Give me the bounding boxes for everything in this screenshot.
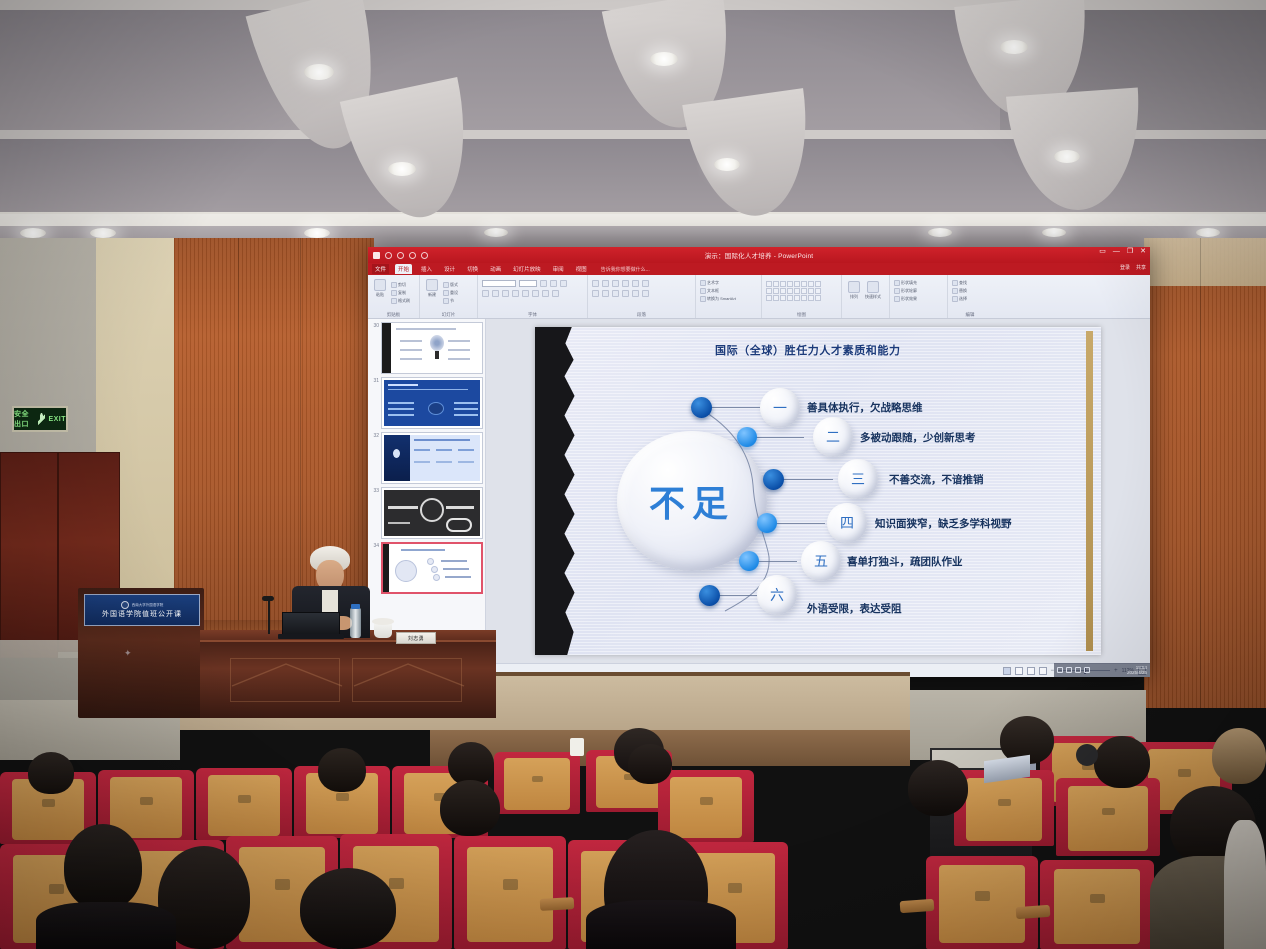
new-slide-label: 新建 <box>428 292 436 298</box>
powerpoint-window[interactable]: 演示：国际化人才培养 - PowerPoint ▭ — ❐ ✕ 文件 开始 插入… <box>368 247 1150 677</box>
item-index-6: 六 <box>770 585 784 605</box>
italic-icon[interactable] <box>492 290 499 297</box>
clock-date: 2025/4/25 <box>1127 670 1147 675</box>
view-normal-icon[interactable] <box>1003 667 1011 675</box>
audience-head <box>1094 736 1150 788</box>
thumb-line <box>454 402 478 404</box>
thumb-band <box>382 323 391 373</box>
thumb-line <box>400 340 422 342</box>
search-icon <box>952 280 958 286</box>
format-painter-label: 格式刷 <box>398 298 410 304</box>
ribbon-group-font: 字体 <box>478 275 588 318</box>
thumbnail-number: 31 <box>370 377 379 429</box>
item-bubble-4: 四 <box>827 503 867 543</box>
paste-button[interactable]: 粘贴 <box>372 279 388 307</box>
university-crest-icon <box>121 601 129 609</box>
view-sorter-icon[interactable] <box>1015 667 1023 675</box>
audience-head <box>908 760 968 816</box>
table-carving <box>226 656 476 696</box>
align-center-icon[interactable] <box>602 290 609 297</box>
textbox-icon <box>700 288 706 294</box>
nameplate-text: 刘志勇 <box>408 635 425 642</box>
wall-seam <box>300 238 301 630</box>
shape-icon[interactable] <box>766 288 772 294</box>
audience-head <box>300 868 396 949</box>
wordart-icon <box>700 280 706 286</box>
thumbnail-row[interactable]: 34 <box>370 542 483 594</box>
item-index-1: 一 <box>773 398 787 418</box>
thumb-line <box>445 576 471 578</box>
thumb-person <box>393 449 400 458</box>
downlight <box>484 228 508 237</box>
tab-design[interactable]: 设计 <box>441 264 458 274</box>
close-icon[interactable]: ✕ <box>1140 248 1146 256</box>
thumb-line <box>458 461 474 463</box>
cut-label: 剪切 <box>398 282 406 288</box>
replace-button[interactable]: 替换 <box>952 288 988 294</box>
bulb-base <box>435 351 439 359</box>
tab-slideshow[interactable]: 幻灯片放映 <box>510 264 544 274</box>
thumbnail-number: 34 <box>370 542 379 594</box>
ribbon-options-icon[interactable]: ▭ <box>1099 248 1106 256</box>
thumb-circle <box>428 402 444 415</box>
armrest <box>1016 905 1051 919</box>
textbox-label: 文本框 <box>707 288 719 294</box>
seat-r3-i <box>1040 860 1154 949</box>
bold-icon[interactable] <box>482 290 489 297</box>
downlight <box>304 64 334 80</box>
tab-transitions[interactable]: 切换 <box>464 264 481 274</box>
thumbnail-row[interactable]: 33 <box>370 487 483 539</box>
running-man-icon <box>38 413 46 426</box>
lecture-hall-photo: 安全出口 EXIT 演示：国际化人才培养 - PowerPoint ▭ — <box>0 0 1266 949</box>
shape-icon[interactable] <box>780 281 786 287</box>
network-icon[interactable] <box>1057 667 1063 673</box>
quick-styles-icon <box>867 281 879 293</box>
find-label: 查找 <box>959 280 967 286</box>
shape-icon[interactable] <box>766 295 772 301</box>
wordart-button[interactable]: 艺术字 <box>700 280 757 286</box>
group-label-clipboard: 剪贴板 <box>368 312 419 318</box>
font-color-icon[interactable] <box>552 290 559 297</box>
view-reading-icon[interactable] <box>1027 667 1035 675</box>
increase-font-icon[interactable] <box>540 280 547 287</box>
shape-fill-label: 形状填充 <box>901 280 917 286</box>
font-size-input[interactable] <box>519 280 537 287</box>
laptop-base <box>278 634 344 639</box>
audience-head <box>628 744 672 784</box>
slide-title: 国际（全球）胜任力人才素质和能力 <box>715 342 901 358</box>
seat-r1-a <box>494 752 580 814</box>
thumb-line <box>388 522 410 524</box>
select-label: 选择 <box>959 296 967 302</box>
arrange-button[interactable]: 排列 <box>846 281 862 309</box>
item-index-4: 四 <box>840 513 854 533</box>
clear-format-icon[interactable] <box>560 280 567 287</box>
ribbon-group-paragraph-extra: 艺术字 文本框 转换为 SmartArt <box>696 275 762 318</box>
workspace: 30 <box>368 319 1150 663</box>
sign-in-label[interactable]: 登录 <box>1120 264 1130 271</box>
ribbon-group-slides: 新建 版式 重设 节 幻灯片 <box>420 275 478 318</box>
group-label-paragraph: 段落 <box>588 312 695 318</box>
thumb-line <box>446 506 474 509</box>
thumb-line <box>448 349 470 351</box>
podium-main-line: 外国语学院值班公开课 <box>102 609 182 619</box>
ribbon-group-arrange: 排列 快速样式 <box>842 275 890 318</box>
thumb-line <box>388 506 418 509</box>
thumb-title-line <box>414 439 470 441</box>
shape-icon[interactable] <box>787 295 793 301</box>
convert-icon <box>700 296 706 302</box>
reset-icon <box>443 290 449 296</box>
thumbnail-row[interactable]: 31 <box>370 377 483 429</box>
ribbon-group-shape-format: 形状填充 形状轮廓 形状效果 <box>890 275 948 318</box>
laptop-screen[interactable] <box>282 612 340 636</box>
thumb-line <box>388 389 468 390</box>
taskbar-clock[interactable]: 18:54 2025/4/25 <box>1127 665 1147 675</box>
thumb-line <box>443 568 469 570</box>
copy-label: 复制 <box>398 290 406 296</box>
quick-styles-button[interactable]: 快速样式 <box>865 281 881 309</box>
thumbnail-row[interactable]: 30 <box>370 322 483 374</box>
replace-label: 替换 <box>959 288 967 294</box>
thumb-title-line <box>401 549 445 551</box>
seat-r2-h <box>1056 778 1160 856</box>
thumb-line <box>448 358 470 360</box>
node-dot-4 <box>757 513 777 533</box>
input-icon[interactable] <box>1084 667 1090 673</box>
seat-r3-e <box>454 836 566 949</box>
downlight <box>1042 228 1066 237</box>
character-spacing-icon[interactable] <box>532 290 539 297</box>
convert-smartart-button[interactable]: 转换为 SmartArt <box>700 296 757 302</box>
thumb-line <box>436 449 452 451</box>
paper-cup <box>570 738 584 756</box>
seat-r3-h <box>926 856 1038 949</box>
group-label-slides: 幻灯片 <box>420 312 477 318</box>
item-bubble-2: 二 <box>813 417 853 457</box>
tab-animations[interactable]: 动画 <box>487 264 504 274</box>
thumb-line <box>441 560 467 562</box>
exit-sign-left-text: 安全出口 <box>14 409 35 429</box>
ceiling-slab-upper <box>0 10 1000 130</box>
title-bar: 演示：国际化人才培养 - PowerPoint ▭ — ❐ ✕ <box>368 247 1150 263</box>
decrease-indent-icon[interactable] <box>612 280 619 287</box>
shape-outline-button[interactable]: 形状轮廓 <box>894 288 943 294</box>
restore-icon[interactable]: ❐ <box>1127 248 1133 256</box>
ribbon-tabs[interactable]: 文件 开始 插入 设计 切换 动画 幻灯片放映 审阅 视图 告诉我你想要做什么.… <box>368 263 1150 275</box>
shape-icon[interactable] <box>787 288 793 294</box>
podium-sign: 西南大学外国语学院 外国语学院值班公开课 <box>84 594 200 626</box>
node-dot-6 <box>699 585 720 606</box>
slide-left-decor <box>535 327 581 655</box>
fill-icon <box>894 280 900 286</box>
thumbnail-slide-34-selected[interactable] <box>381 542 483 594</box>
shape-icon[interactable] <box>780 288 786 294</box>
tab-file[interactable]: 文件 <box>372 264 389 274</box>
document-title: 演示：国际化人才培养 - PowerPoint <box>368 250 1150 260</box>
tab-view[interactable]: 视图 <box>573 264 590 274</box>
shape-icon[interactable] <box>815 288 821 294</box>
thumb-line <box>448 340 470 342</box>
strikethrough-icon[interactable] <box>522 290 529 297</box>
find-button[interactable]: 查找 <box>952 280 988 286</box>
shape-icon[interactable] <box>794 295 800 301</box>
outline-icon <box>894 288 900 294</box>
armrest <box>900 899 935 913</box>
thumb-title-line <box>388 384 418 386</box>
thumb-bubble <box>431 566 438 573</box>
window-controls[interactable]: ▭ — ❐ ✕ <box>1099 248 1146 256</box>
item-text-6: 外语受限，表达受阻 <box>807 601 902 616</box>
thumb-photo <box>384 435 410 481</box>
shape-icon[interactable] <box>787 281 793 287</box>
columns-icon[interactable] <box>632 290 639 297</box>
item-index-3: 三 <box>851 469 865 489</box>
shape-icon[interactable] <box>815 281 821 287</box>
align-right-icon[interactable] <box>612 290 619 297</box>
audience-shoulders-light <box>1224 820 1266 949</box>
seat-r2-g <box>954 770 1054 846</box>
group-label-editing: 编辑 <box>948 312 992 318</box>
quick-styles-label: 快速样式 <box>865 294 881 300</box>
replace-icon <box>952 288 958 294</box>
change-case-icon[interactable] <box>542 290 549 297</box>
thumb-line <box>400 349 422 351</box>
microphone-head <box>262 596 274 601</box>
section-button[interactable]: 节 <box>443 298 458 304</box>
projection-screen: 演示：国际化人才培养 - PowerPoint ▭ — ❐ ✕ 文件 开始 插入… <box>368 247 1150 677</box>
line-spacing-icon[interactable] <box>632 280 639 287</box>
shape-icon[interactable] <box>815 295 821 301</box>
item-bubble-3: 三 <box>838 459 878 499</box>
shape-icon[interactable] <box>766 281 772 287</box>
increase-indent-icon[interactable] <box>622 280 629 287</box>
audience-cap <box>1076 744 1098 766</box>
wall-seam <box>1200 238 1201 708</box>
ceiling-light-wash <box>0 214 1266 238</box>
node-dot-1 <box>691 397 712 418</box>
cup-lid <box>372 618 394 625</box>
shape-icon[interactable] <box>794 288 800 294</box>
downlight <box>20 228 46 238</box>
thumbnail-slide-33[interactable] <box>381 487 483 539</box>
audience-head <box>440 780 500 836</box>
copy-button[interactable]: 复制 <box>391 290 410 296</box>
align-left-icon[interactable] <box>592 290 599 297</box>
brush-icon <box>391 298 397 304</box>
water-bottle <box>350 608 361 638</box>
wall-wood-left <box>174 238 374 630</box>
bottle-cap <box>351 604 360 609</box>
tab-insert[interactable]: 插入 <box>418 264 435 274</box>
arrange-icon <box>848 281 860 293</box>
shape-fill-button[interactable]: 形状填充 <box>894 280 943 286</box>
item-text-3: 不善交流，不谙推销 <box>889 472 984 487</box>
minimize-icon[interactable]: — <box>1113 248 1120 256</box>
arrange-label: 排列 <box>850 294 858 300</box>
downlight <box>1000 40 1028 54</box>
thumbnail-number: 32 <box>370 432 379 484</box>
wall-wood-right <box>1144 238 1266 708</box>
shadow-icon[interactable] <box>512 290 519 297</box>
downlight <box>650 52 678 66</box>
copy-icon <box>391 290 397 296</box>
thumb-line <box>388 402 414 404</box>
ribbon-group-clipboard: 粘贴 剪切 复制 格式刷 剪贴板 <box>368 275 420 318</box>
tell-me-box[interactable]: 告诉我你想要做什么... <box>601 266 650 273</box>
justify-icon[interactable] <box>622 290 629 297</box>
wall-seam <box>238 238 239 630</box>
thumbnail-slide-32[interactable] <box>381 432 483 484</box>
clipboard-icon <box>374 279 386 291</box>
thumbnail-slide-30[interactable] <box>381 322 483 374</box>
volume-icon[interactable] <box>1066 667 1072 673</box>
node-dot-5 <box>739 551 759 571</box>
thumb-line <box>388 414 414 416</box>
decrease-font-icon[interactable] <box>550 280 557 287</box>
downlight <box>928 228 952 237</box>
thumbnail-slide-31[interactable] <box>381 377 483 429</box>
audience-shoulders <box>36 902 176 949</box>
seat-r2-f <box>658 770 754 842</box>
slide-right-bar <box>1086 331 1093 651</box>
thumbnail-row[interactable]: 32 <box>370 432 483 484</box>
shape-icon[interactable] <box>801 295 807 301</box>
text-direction-icon[interactable] <box>642 280 649 287</box>
group-label-font: 字体 <box>478 312 587 318</box>
shape-icon[interactable] <box>780 295 786 301</box>
item-index-5: 五 <box>814 551 828 571</box>
bullets-icon[interactable] <box>592 280 599 287</box>
shape-outline-label: 形状轮廓 <box>901 288 917 294</box>
microphone-stem <box>268 600 270 634</box>
shape-icon[interactable] <box>801 281 807 287</box>
view-slideshow-icon[interactable] <box>1039 667 1047 675</box>
reset-button[interactable]: 重设 <box>443 290 458 296</box>
audience-shoulders <box>586 900 736 949</box>
item-index-2: 二 <box>826 427 840 447</box>
thumb-title-line <box>396 328 456 330</box>
thumb-line <box>436 461 452 463</box>
tab-review[interactable]: 审阅 <box>550 264 567 274</box>
ime-icon[interactable] <box>1075 667 1081 673</box>
share-button[interactable]: 共享 <box>1136 264 1146 271</box>
tab-home[interactable]: 开始 <box>395 264 412 274</box>
shape-icon[interactable] <box>808 281 814 287</box>
layout-icon <box>443 282 449 288</box>
item-bubble-5: 五 <box>801 541 841 581</box>
ribbon[interactable]: 粘贴 剪切 复制 格式刷 剪贴板 新建 <box>368 275 1150 319</box>
thumb-wheel <box>420 498 444 522</box>
shape-gallery[interactable] <box>766 281 837 301</box>
slide-thumbnail-pane[interactable]: 30 <box>368 319 486 663</box>
smartart-icon[interactable] <box>642 290 649 297</box>
convert-smartart-label: 转换为 SmartArt <box>707 296 736 302</box>
new-slide-button[interactable]: 新建 <box>424 279 440 307</box>
ribbon-group-drawing: 绘图 <box>762 275 842 318</box>
shape-icon[interactable] <box>801 288 807 294</box>
thumb-bg <box>410 435 480 481</box>
thumb-line <box>414 461 430 463</box>
new-slide-icon <box>426 279 438 291</box>
section-label: 节 <box>450 298 454 304</box>
downlight <box>304 228 330 238</box>
thumb-line <box>388 408 414 410</box>
audience-head <box>64 824 142 910</box>
scissors-icon <box>391 282 397 288</box>
section-icon <box>443 298 449 304</box>
format-painter-button[interactable]: 格式刷 <box>391 298 410 304</box>
shape-icon[interactable] <box>773 295 779 301</box>
item-text-1: 善具体执行，欠战略思维 <box>807 400 923 415</box>
select-button[interactable]: 选择 <box>952 296 988 302</box>
font-name-input[interactable] <box>482 280 516 287</box>
podium-org-line: 西南大学外国语学院 <box>132 603 164 608</box>
item-text-2: 多被动跟随，少创新思考 <box>860 430 976 445</box>
item-bubble-6: 六 <box>757 575 797 615</box>
wordart-label: 艺术字 <box>707 280 719 286</box>
item-bubble-1: 一 <box>760 388 800 428</box>
layout-button[interactable]: 版式 <box>443 282 458 288</box>
account-area[interactable]: 登录 共享 <box>1120 264 1146 271</box>
thumb-bubble <box>427 558 434 565</box>
underline-icon[interactable] <box>502 290 509 297</box>
thumb-line <box>458 449 474 451</box>
audience-head-blonde <box>1212 728 1266 784</box>
downlight <box>714 158 740 171</box>
downlight <box>1196 228 1220 237</box>
thumbnail-number: 33 <box>370 487 379 539</box>
paste-label: 粘贴 <box>376 292 384 298</box>
windows-taskbar-tray[interactable]: 18:54 2025/4/25 <box>1054 663 1150 677</box>
cut-button[interactable]: 剪切 <box>391 282 410 288</box>
shape-icon[interactable] <box>794 281 800 287</box>
numbering-icon[interactable] <box>602 280 609 287</box>
item-text-5: 喜单打独斗，疏团队作业 <box>847 554 963 569</box>
door-left-a[interactable] <box>0 452 58 658</box>
thumb-line <box>414 449 430 451</box>
thumb-line <box>400 358 422 360</box>
thumb-band <box>383 544 389 592</box>
exit-sign-right-text: EXIT <box>48 416 66 423</box>
exit-sign: 安全出口 EXIT <box>12 406 68 432</box>
thumb-line <box>454 408 478 410</box>
shape-icon[interactable] <box>773 281 779 287</box>
shape-icon[interactable] <box>808 295 814 301</box>
audience-head <box>28 752 74 794</box>
thumb-oval <box>446 518 472 532</box>
wall-right-top <box>1144 238 1266 286</box>
downlight <box>388 162 416 176</box>
thumb-bubble <box>433 574 440 581</box>
thumb-hub <box>395 560 417 582</box>
thumb-line <box>454 414 478 416</box>
shape-icon[interactable] <box>808 288 814 294</box>
layout-label: 版式 <box>450 282 458 288</box>
shape-icon[interactable] <box>773 288 779 294</box>
ribbon-group-paragraph: 段落 <box>588 275 696 318</box>
group-label-drawing: 绘图 <box>762 312 841 318</box>
shape-effects-button[interactable]: 形状效果 <box>894 296 943 302</box>
slide-canvas[interactable]: 国际（全球）胜任力人才素质和能力 不足 <box>486 319 1150 663</box>
armrest <box>540 897 575 911</box>
current-slide[interactable]: 国际（全球）胜任力人才素质和能力 不足 <box>535 327 1101 655</box>
node-dot-3 <box>763 469 784 490</box>
effects-icon <box>894 296 900 302</box>
reset-label: 重设 <box>450 290 458 296</box>
textbox-button[interactable]: 文本框 <box>700 288 757 294</box>
